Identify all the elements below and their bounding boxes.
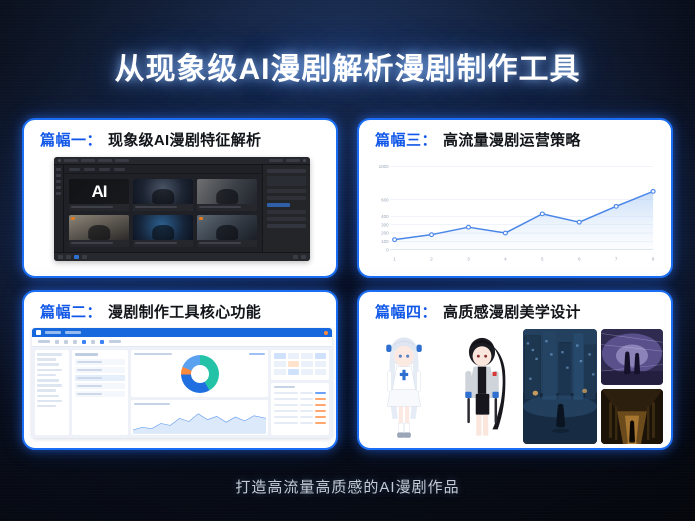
toolbar-icon (73, 340, 77, 344)
dashboard-nav-item (45, 331, 61, 334)
character-art-black-haired (445, 329, 519, 444)
thumbnail-image (69, 215, 129, 240)
table-cell (274, 422, 298, 424)
table-cell (274, 404, 298, 406)
card-one-header: 篇幅一： 现象级AI漫剧特征解析 (24, 120, 336, 155)
editor-tab (98, 159, 112, 162)
card-two-body (24, 327, 336, 448)
scene-column (601, 329, 663, 444)
card-one-body: AI (24, 155, 336, 276)
table-status-badge (315, 422, 326, 424)
editor-filter-bar (64, 165, 262, 174)
card-one-tag: 篇幅一： (40, 129, 102, 150)
thumbnail-caption (197, 240, 257, 247)
dashboard-logo-icon (36, 330, 41, 335)
donut-card-title (134, 353, 172, 355)
table-cell (300, 398, 313, 400)
dashboard-main (32, 347, 332, 438)
thumbnail-caption (69, 204, 129, 211)
editor-rail-icon (56, 180, 61, 183)
thumbnail-image (133, 179, 193, 204)
corridor-scene-svg (601, 389, 663, 445)
y-axis-tick-label: 0 (386, 247, 389, 252)
table-cell (300, 422, 313, 424)
toolbar-icon-active (100, 340, 104, 344)
page-title: 从现象级AI漫剧解析漫剧制作工具 (0, 44, 695, 88)
list-item-selected (75, 375, 125, 381)
sidebar-item (37, 374, 56, 377)
chart-data-point (540, 212, 544, 216)
toolbar-icon (55, 340, 59, 344)
editor-close-icon (303, 159, 306, 162)
table-cell (274, 416, 298, 418)
portrait-silhouette-icon (216, 225, 238, 241)
table-cell (300, 404, 313, 406)
thumbnail-ai-logo: AI (69, 179, 129, 204)
chart-data-point (430, 233, 434, 237)
kpi-cell (288, 353, 300, 359)
area-chart-fill (133, 414, 266, 434)
property-row (267, 189, 306, 193)
card-section-four[interactable]: 篇幅四： 高质感漫剧美学设计 (357, 290, 673, 450)
thumbnail-badge (71, 217, 75, 220)
table-cell (300, 416, 313, 418)
table-status-badge (315, 416, 326, 418)
table-title (274, 386, 295, 388)
editor-properties-panel (262, 165, 310, 252)
x-axis-tick-label: 2 (430, 257, 433, 262)
property-row (267, 169, 306, 173)
x-axis-tick-label: 1 (393, 257, 396, 262)
property-row-accent (267, 203, 290, 207)
editor-rail-icon (56, 168, 61, 171)
kpi-cell (315, 369, 327, 375)
editor-thumbnail (197, 215, 257, 247)
table-cell (274, 398, 298, 400)
table-cell (274, 392, 298, 394)
editor-left-rail (54, 165, 64, 252)
editor-tool-icon (301, 255, 306, 259)
editor-bottom-bar (54, 252, 310, 261)
card-three-tag: 篇幅三： (375, 129, 437, 150)
chart-data-point (503, 231, 507, 235)
chart-data-point (577, 220, 581, 224)
editor-filter-chip (84, 168, 95, 171)
property-row (267, 196, 306, 200)
editor-tab (286, 159, 300, 162)
x-axis-tick-label: 7 (615, 257, 618, 262)
data-table (271, 383, 329, 435)
table-status-badge (315, 398, 326, 400)
y-axis-tick-label: 200 (381, 231, 389, 236)
editor-thumbnail-selected (133, 179, 193, 211)
thumbnail-badge (199, 217, 203, 220)
character-art-white-haired (367, 329, 441, 444)
kpi-cell (274, 369, 286, 375)
table-row (274, 409, 326, 413)
scene-city-street (523, 329, 597, 444)
thumbnail-image (133, 215, 193, 240)
area-chart-svg (133, 408, 266, 434)
table-cell (274, 410, 298, 412)
donut-chart (181, 355, 219, 393)
cards-grid: 篇幅一： 现象级AI漫剧特征解析 (22, 118, 673, 450)
thumbnail-caption (133, 240, 193, 247)
card-two-header: 篇幅二： 漫剧制作工具核心功能 (24, 292, 336, 327)
kpi-cell (301, 369, 313, 375)
thumbnail-caption (133, 204, 193, 211)
dashboard-right-column (271, 350, 329, 435)
chart-data-point (393, 238, 397, 242)
table-status-badge (315, 410, 326, 412)
sidebar-item (37, 379, 59, 382)
ai-logo-text: AI (92, 183, 107, 200)
editor-center: AI (64, 165, 262, 252)
sidebar-item (37, 363, 59, 366)
dashboard-nav-item (65, 331, 81, 334)
kpi-cell (301, 353, 313, 359)
thumbnail-image (197, 179, 257, 204)
donut-chart-card (131, 350, 268, 397)
toolbar-label (109, 340, 121, 343)
x-axis-tick-label: 5 (541, 257, 544, 262)
editor-topbar (54, 157, 310, 165)
table-row (274, 397, 326, 401)
editor-tool-icon (66, 255, 71, 259)
editor-filter-chip (114, 168, 125, 171)
chart-x-axis-labels: 12345678 (393, 257, 655, 262)
kpi-cell (315, 361, 327, 367)
admin-dashboard-screenshot (32, 328, 332, 438)
card-one-title: 现象级AI漫剧特征解析 (108, 129, 261, 150)
x-axis-tick-label: 8 (652, 257, 655, 262)
editor-play-icon (74, 255, 79, 259)
chart-data-point (614, 205, 618, 209)
y-axis-tick-label: 1000 (379, 164, 390, 169)
white-haired-character-svg (367, 329, 441, 444)
chart-area-fill (395, 191, 654, 249)
kpi-grid (271, 350, 329, 380)
thumbnail-image (197, 215, 257, 240)
editor-rail-icon (56, 174, 61, 177)
city-scene-svg (523, 329, 597, 444)
card-three-header: 篇幅三： 高流量漫剧运营策略 (359, 120, 671, 155)
editor-tab (269, 159, 283, 162)
thumbnail-caption (69, 240, 129, 247)
card-four-title: 高质感漫剧美学设计 (443, 301, 581, 322)
list-panel-title (75, 353, 98, 356)
x-axis-tick-label: 6 (578, 257, 581, 262)
x-axis-tick-label: 3 (467, 257, 470, 262)
property-row (267, 210, 306, 214)
card-three-body: 01002003004006001000 12345678 (359, 155, 671, 276)
editor-menu-dot-icon (58, 159, 61, 162)
dashboard-sidebar (35, 350, 69, 435)
table-cell (300, 410, 313, 412)
thumbnail-caption (197, 204, 257, 211)
list-item (75, 383, 125, 389)
chart-data-point (651, 190, 655, 194)
chart-data-point (466, 225, 470, 229)
editor-tab (115, 159, 129, 162)
editor-thumbnail (197, 179, 257, 211)
y-axis-tick-label: 100 (381, 239, 389, 244)
line-chart-svg: 01002003004006001000 12345678 (365, 159, 661, 270)
card-two-title: 漫剧制作工具核心功能 (108, 301, 261, 322)
card-section-one[interactable]: 篇幅一： 现象级AI漫剧特征解析 (22, 118, 338, 278)
art-gallery (367, 329, 663, 444)
traffic-line-chart: 01002003004006001000 12345678 (365, 159, 661, 270)
kpi-cell (301, 361, 313, 367)
dashboard-avatar (324, 331, 328, 335)
black-haired-character-svg (445, 329, 519, 444)
list-item (75, 367, 125, 373)
y-axis-tick-label: 300 (381, 222, 389, 227)
editor-tool-icon (293, 255, 298, 259)
card-four-tag: 篇幅四： (375, 301, 437, 322)
two-figures-scene-svg (601, 329, 663, 385)
editor-tab (64, 159, 78, 162)
editor-tab (81, 159, 95, 162)
card-four-header: 篇幅四： 高质感漫剧美学设计 (359, 292, 671, 327)
sidebar-item (37, 353, 62, 356)
table-row (274, 391, 326, 395)
editor-thumbnail-grid: AI (64, 174, 262, 252)
editor-tool-icon (82, 255, 87, 259)
editor-filter-chip (99, 168, 110, 171)
donut-card-action (249, 353, 265, 355)
area-card-title (134, 403, 170, 405)
sidebar-item (37, 400, 62, 403)
kpi-cell (274, 361, 286, 367)
editor-rail-icon (56, 192, 61, 195)
editor-tool-icon (58, 255, 63, 259)
table-cell (300, 392, 313, 394)
toolbar-icon (64, 340, 68, 344)
kpi-cell (315, 353, 327, 359)
portrait-silhouette-icon (216, 189, 238, 205)
table-status-badge (315, 392, 326, 394)
toolbar-icon (91, 340, 95, 344)
editor-thumbnail (133, 215, 193, 247)
kpi-cell (274, 353, 286, 359)
card-section-three[interactable]: 篇幅三： 高流量漫剧运营策略 01002003004006001000 1234… (357, 118, 673, 278)
table-status-badge (315, 404, 326, 406)
sidebar-item (37, 389, 56, 392)
table-row (274, 415, 326, 419)
editor-main: AI (54, 165, 310, 252)
dashboard-topbar (32, 328, 332, 337)
table-row (274, 421, 326, 425)
list-item (75, 391, 125, 397)
table-row (274, 403, 326, 407)
card-section-two[interactable]: 篇幅二： 漫剧制作工具核心功能 (22, 290, 338, 450)
editor-thumbnail (69, 215, 129, 247)
toolbar-label (38, 340, 50, 343)
dashboard-center-column (131, 350, 268, 435)
y-axis-tick-label: 400 (381, 214, 389, 219)
kpi-cell (288, 369, 300, 375)
kpi-cell (288, 361, 300, 367)
video-editor-screenshot: AI (54, 157, 310, 261)
card-four-body (359, 327, 671, 448)
dashboard-list-panel (72, 350, 128, 435)
dashboard-toolbar (32, 337, 332, 347)
portrait-silhouette-icon (88, 225, 110, 241)
area-chart-card (131, 400, 268, 435)
card-three-title: 高流量漫剧运营策略 (443, 129, 581, 150)
sidebar-item (37, 384, 62, 387)
sidebar-item (37, 405, 56, 408)
list-item (75, 359, 125, 365)
page-footer: 打造高流量高质感的AI漫剧作品 (0, 476, 695, 497)
property-preview (267, 176, 306, 186)
scene-corridor (601, 389, 663, 445)
editor-filter-chip (69, 168, 80, 171)
scene-two-figures (601, 329, 663, 385)
chart-y-axis-labels: 01002003004006001000 (379, 164, 390, 252)
editor-thumbnail: AI (69, 179, 129, 211)
property-row (267, 217, 306, 221)
sidebar-item (37, 369, 62, 372)
sidebar-item (37, 395, 59, 398)
card-two-tag: 篇幅二： (40, 301, 102, 322)
y-axis-tick-label: 600 (381, 197, 389, 202)
portrait-silhouette-icon (152, 189, 174, 205)
editor-rail-icon (56, 186, 61, 189)
portrait-silhouette-icon (152, 225, 174, 241)
x-axis-tick-label: 4 (504, 257, 507, 262)
property-row (267, 224, 306, 228)
sidebar-item (37, 358, 56, 361)
toolbar-icon-active (82, 340, 86, 344)
